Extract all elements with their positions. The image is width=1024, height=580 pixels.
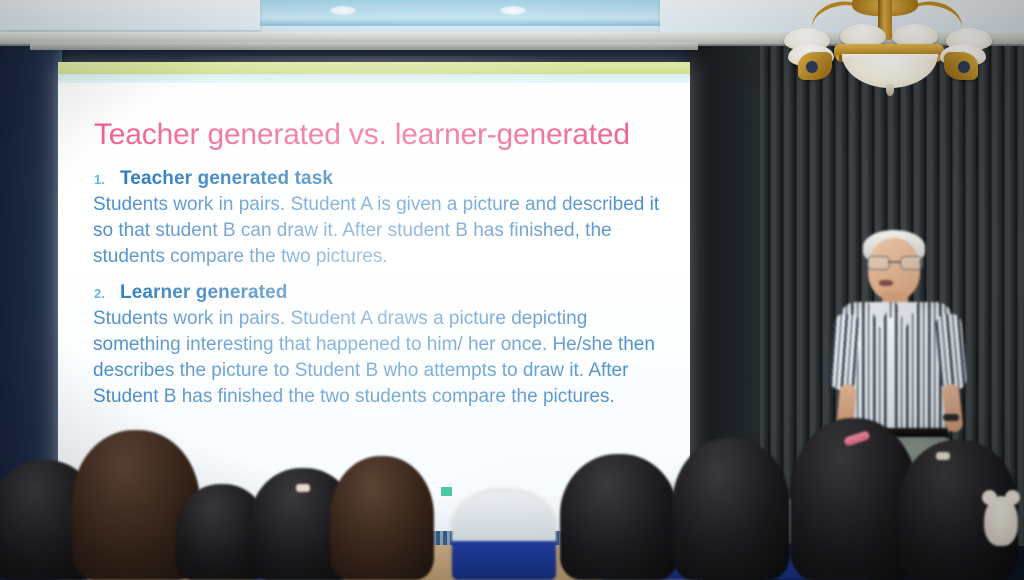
shirt-sleeve — [935, 313, 968, 391]
audience-member — [330, 456, 434, 580]
lecture-room-photo: Teacher generated vs. learner-generated … — [0, 0, 1024, 580]
presenter-mouth — [879, 280, 893, 286]
list-heading: Learner generated — [120, 282, 288, 304]
shirt-placket — [888, 318, 895, 430]
green-indicator — [441, 487, 452, 496]
list-number: 1. — [88, 172, 120, 187]
chandelier-finial — [886, 84, 894, 96]
slide-list: 1. Teacher generated task Students work … — [88, 168, 680, 410]
list-paragraph: Students work in pairs. Student A is giv… — [93, 192, 668, 270]
list-paragraph: Students work in pairs. Student A draws … — [93, 306, 668, 410]
hair-clip — [843, 430, 871, 447]
list-number: 2. — [88, 286, 120, 301]
chandelier-shade — [840, 24, 886, 46]
presenter-arm — [942, 383, 964, 433]
chair — [452, 492, 556, 580]
chandelier-bowl — [842, 54, 938, 88]
hair-tie — [296, 484, 310, 492]
list-item: 2. Learner generated — [88, 282, 680, 304]
slide-top-band-cyan — [58, 74, 690, 83]
ceiling-coffer — [250, 0, 670, 26]
slide-top-band-green — [58, 62, 690, 74]
audience-member — [560, 454, 678, 580]
glasses-icon — [867, 256, 921, 268]
chandelier — [782, 0, 996, 102]
ceiling-beam-left — [0, 0, 260, 30]
wristwatch — [943, 414, 959, 421]
chandelier-scroll — [944, 52, 978, 80]
slide-title: Teacher generated vs. learner-generated — [94, 118, 674, 152]
screen-housing — [30, 42, 698, 50]
audience-member — [672, 438, 790, 580]
shirt-sleeve — [829, 313, 860, 391]
chandelier-scroll — [798, 52, 832, 80]
downlight-icon — [500, 6, 526, 15]
list-heading: Teacher generated task — [120, 168, 333, 190]
downlight-icon — [330, 6, 356, 15]
list-item: 1. Teacher generated task — [88, 168, 680, 190]
hair-tie — [936, 452, 950, 460]
teddy-charm — [984, 496, 1018, 546]
chandelier-shade — [892, 24, 938, 46]
